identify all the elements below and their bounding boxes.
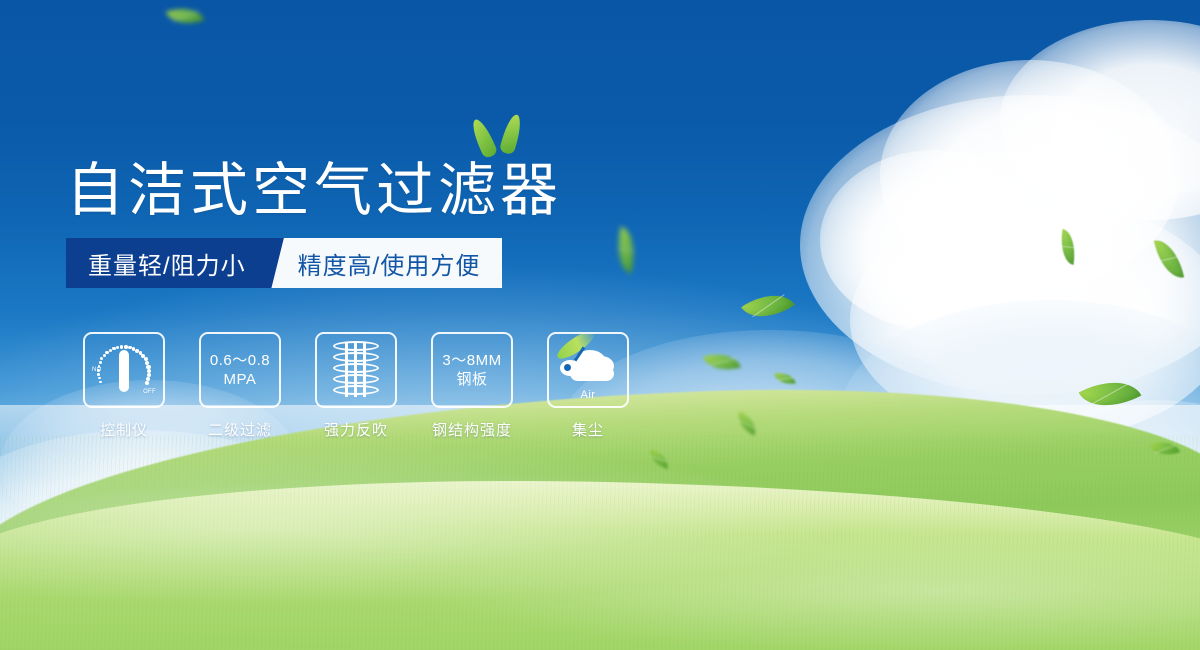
feature-icon-box: Air — [547, 332, 629, 408]
steel-plate-text-icon-line1: 3～8MM — [442, 351, 501, 370]
gauge-tick — [97, 373, 100, 376]
gauge-tick — [105, 351, 108, 354]
feature-item-filtration[interactable]: 0.6～0.8 MPA 二级过滤 — [182, 332, 298, 440]
gauge-label-off: OFF — [143, 389, 156, 395]
gauge-tick — [120, 345, 123, 348]
feature-item-controller[interactable]: NO OFF 控制仪 — [66, 332, 182, 440]
pressure-text-icon-line2: MPA — [224, 370, 257, 389]
gauge-tick — [103, 354, 106, 357]
steel-plate-text-icon-line2: 钢板 — [456, 370, 487, 389]
subtitle-bar: 重量轻/阻力小 精度高/使用方便 — [66, 238, 502, 288]
feature-icon-box: 3～8MM 钢板 — [431, 332, 513, 408]
gauge-tick — [98, 377, 101, 380]
feature-item-dust[interactable]: Air 集尘 — [530, 332, 646, 440]
feature-item-steel[interactable]: 3～8MM 钢板 钢结构强度 — [414, 332, 530, 440]
feature-caption: 集尘 — [572, 419, 604, 440]
subtitle-divider — [266, 238, 292, 288]
page-title: 自洁式空气过滤器 — [66, 143, 562, 227]
feature-list: NO OFF 控制仪 0.6～0.8 MPA 二级过滤 — [66, 332, 646, 440]
feature-item-backblow[interactable]: 强力反吹 — [298, 332, 414, 440]
subtitle-right: 精度高/使用方便 — [292, 238, 503, 288]
subtitle-left: 重量轻/阻力小 — [66, 238, 266, 288]
gauge-tick — [99, 381, 102, 384]
gauge-tick — [145, 381, 150, 386]
cloud-air-icon: Air — [558, 342, 618, 398]
feature-caption: 二级过滤 — [208, 419, 272, 440]
product-banner: 自洁式空气过滤器 重量轻/阻力小 精度高/使用方便 NO OFF 控制仪 0.6… — [0, 0, 1200, 650]
feature-icon-box: 0.6～0.8 MPA — [199, 332, 281, 408]
feature-caption: 强力反吹 — [324, 419, 388, 440]
gauge-tick — [99, 361, 102, 364]
gauge-tick — [100, 357, 103, 360]
feature-caption: 控制仪 — [100, 419, 148, 440]
coil-filter-icon — [333, 341, 379, 399]
gauge-tick — [116, 346, 119, 349]
gauge-tick — [98, 365, 101, 368]
feature-caption: 钢结构强度 — [432, 419, 512, 440]
pressure-text-icon-line1: 0.6～0.8 — [210, 351, 270, 370]
gauge-icon: NO OFF — [93, 341, 155, 399]
air-label: Air — [558, 389, 618, 401]
feature-icon-box — [315, 332, 397, 408]
feature-icon-box: NO OFF — [83, 332, 165, 408]
gauge-tick — [97, 369, 100, 372]
gauge-tick — [112, 347, 115, 350]
